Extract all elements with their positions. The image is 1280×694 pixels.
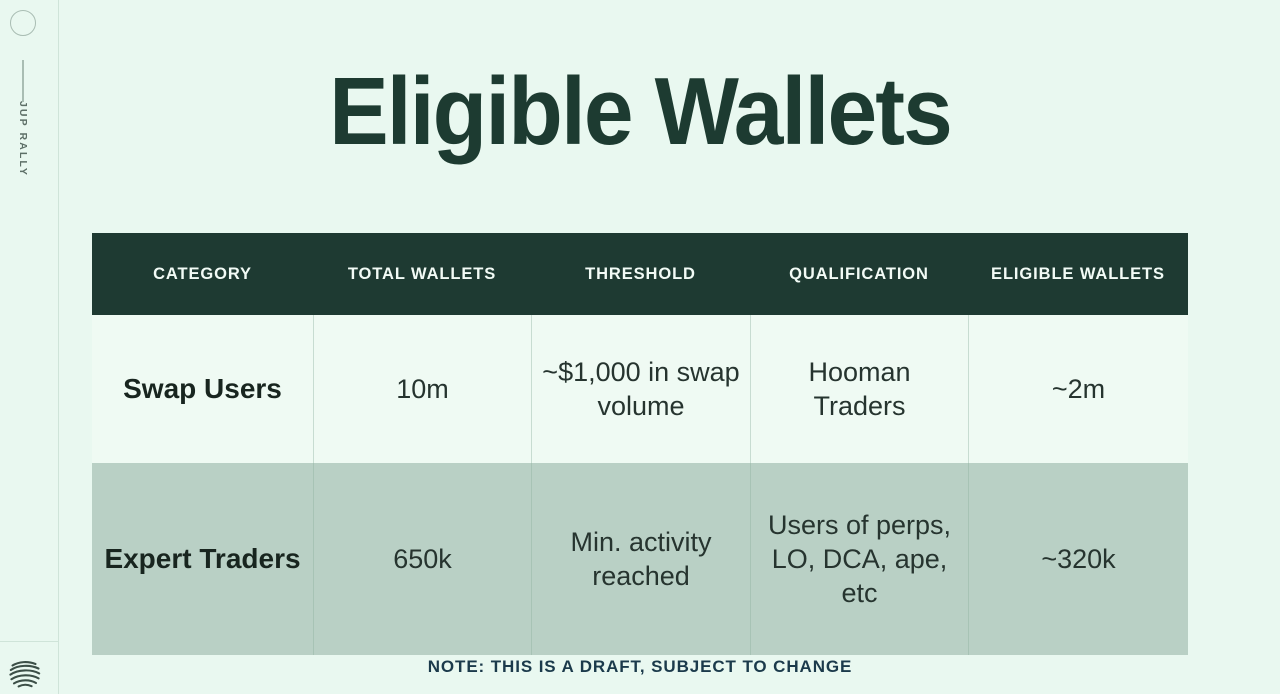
- cell-qualification: Hooman Traders: [750, 315, 968, 463]
- cell-threshold: Min. activity reached: [531, 463, 750, 655]
- table-header-row: CATEGORY TOTAL WALLETS THRESHOLD QUALIFI…: [92, 233, 1188, 315]
- left-rail: JUP RALLY: [0, 0, 58, 694]
- slide-canvas: JUP RALLY Eligible Wallets CATEGORY TOTA…: [0, 0, 1280, 694]
- cell-eligible-wallets: ~320k: [968, 463, 1188, 655]
- cell-threshold: ~$1,000 in swap volume: [531, 315, 750, 463]
- table-row: Swap Users 10m ~$1,000 in swap volume Ho…: [92, 315, 1188, 463]
- rail-bottom-divider: [0, 641, 58, 642]
- eligible-wallets-table: CATEGORY TOTAL WALLETS THRESHOLD QUALIFI…: [92, 233, 1188, 655]
- column-header-total-wallets: TOTAL WALLETS: [313, 233, 531, 315]
- cell-qualification: Users of perps, LO, DCA, ape, etc: [750, 463, 968, 655]
- rail-label: JUP RALLY: [17, 94, 29, 184]
- cell-category: Swap Users: [92, 315, 313, 463]
- column-header-category: CATEGORY: [92, 233, 313, 315]
- cell-total-wallets: 650k: [313, 463, 531, 655]
- table-row: Expert Traders 650k Min. activity reache…: [92, 463, 1188, 655]
- page-title: Eligible Wallets: [130, 64, 1149, 160]
- cell-total-wallets: 10m: [313, 315, 531, 463]
- column-header-threshold: THRESHOLD: [531, 233, 750, 315]
- cell-eligible-wallets: ~2m: [968, 315, 1188, 463]
- jupiter-sphere-logo: [8, 655, 42, 689]
- column-header-qualification: QUALIFICATION: [750, 233, 968, 315]
- circle-outline-icon: [10, 10, 36, 36]
- rail-divider: [58, 0, 59, 694]
- column-header-eligible-wallets: ELIGIBLE WALLETS: [968, 233, 1188, 315]
- cell-category: Expert Traders: [92, 463, 313, 655]
- draft-note: NOTE: THIS IS A DRAFT, SUBJECT TO CHANGE: [92, 657, 1188, 677]
